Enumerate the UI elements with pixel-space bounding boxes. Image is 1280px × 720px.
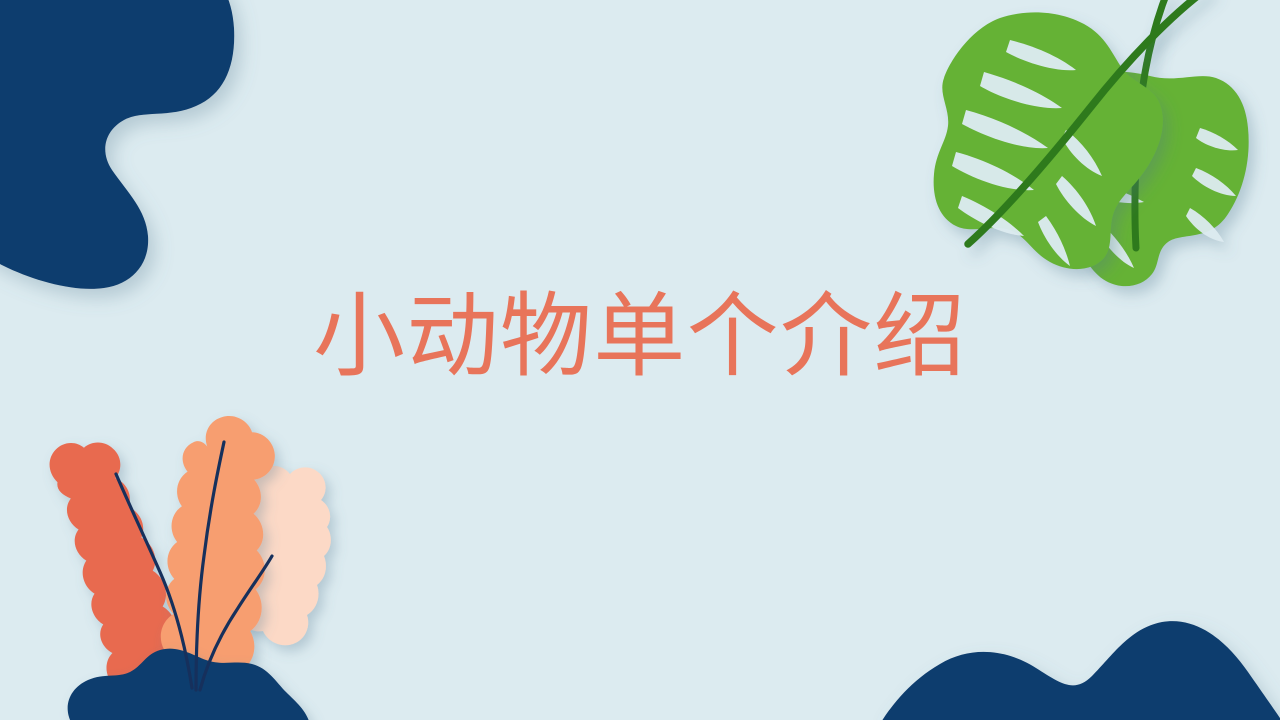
slide-background — [0, 0, 1280, 720]
title-slide: 小动物单个介绍 — [0, 0, 1280, 720]
